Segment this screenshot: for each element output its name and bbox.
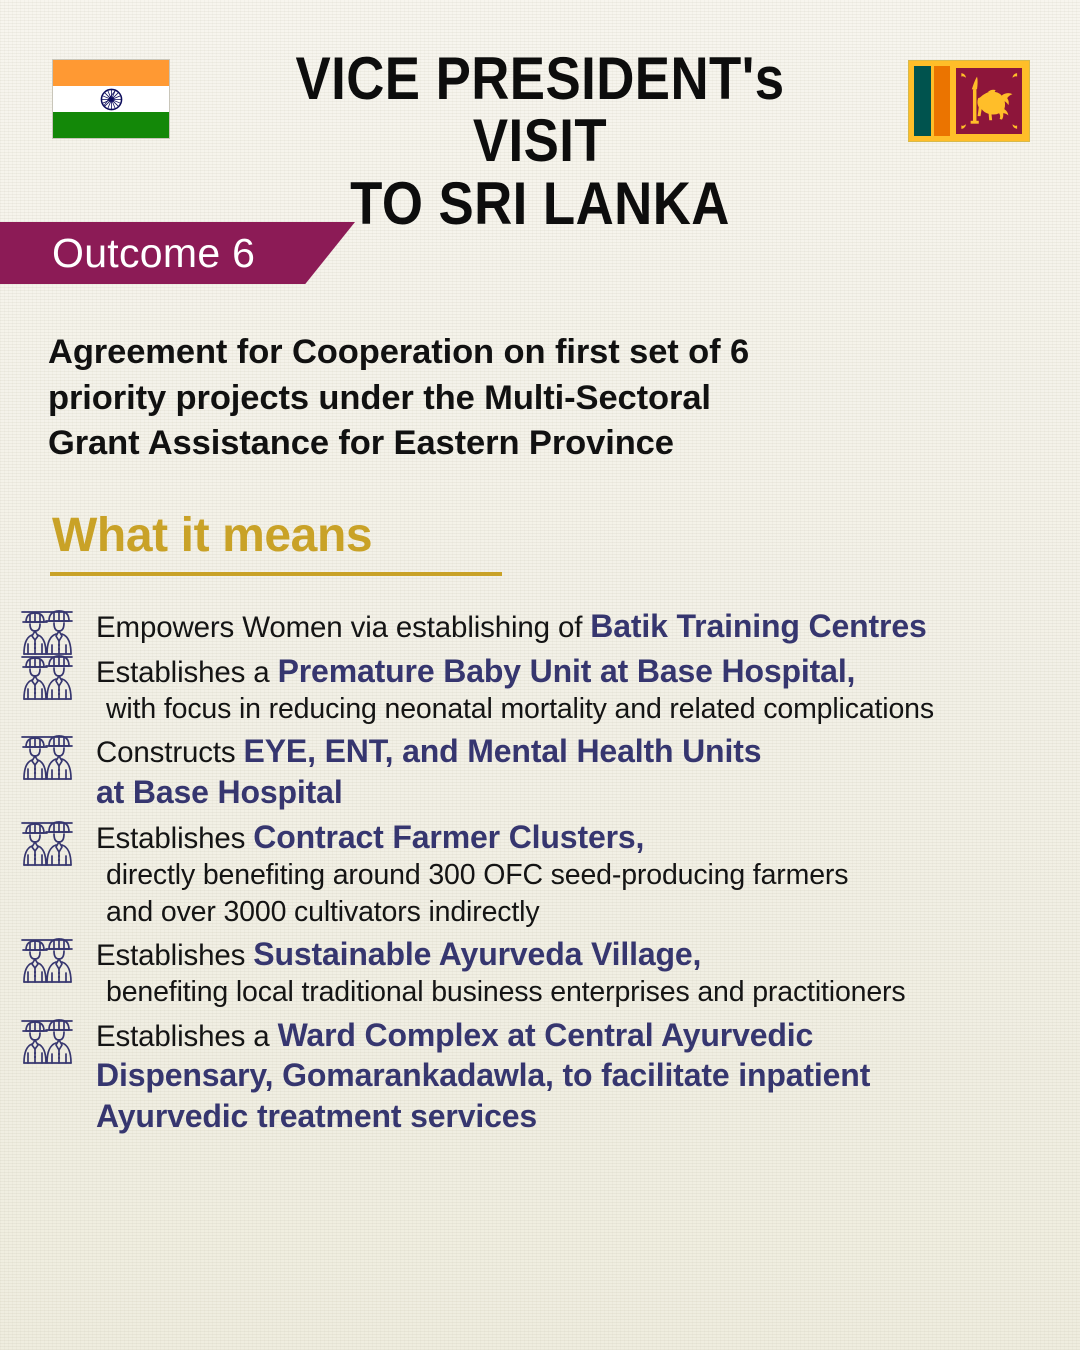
- summary-text: Agreement for Cooperation on first set o…: [48, 330, 948, 467]
- list-item-text: Establishes a Ward Complex at Central Ay…: [96, 1015, 1080, 1137]
- list-item-highlight: Contract Farmer Clusters,: [253, 819, 644, 855]
- list-item-subtext: benefiting local traditional business en…: [96, 974, 1064, 1010]
- two-workers-hardhat-icon: [16, 819, 88, 867]
- list-item-highlight: Ward Complex at Central Ayurvedic: [278, 1017, 814, 1053]
- infographic-page: VICE PRESIDENT's VISIT TO SRI LANKA: [0, 0, 1080, 1350]
- list-item-highlight: Sustainable Ayurveda Village,: [253, 936, 701, 972]
- list-item-highlight: Premature Baby Unit at Base Hospital,: [278, 653, 856, 689]
- list-item-highlight: EYE, ENT, and Mental Health Units: [244, 733, 762, 769]
- two-workers-hardhat-icon: [16, 608, 88, 656]
- lion-with-sword-icon: [960, 72, 1018, 130]
- sri-lanka-flag-green-stripe: [914, 66, 931, 136]
- list-item: Establishes Sustainable Ayurveda Village…: [0, 934, 1080, 1011]
- india-flag-green-band: [53, 112, 169, 138]
- list-item-lead: Constructs: [96, 736, 244, 769]
- ashoka-chakra-icon: [100, 88, 123, 111]
- list-item-subtext-highlight: at Base Hospital: [96, 772, 1064, 813]
- list-item: Constructs EYE, ENT, and Mental Health U…: [0, 731, 1080, 812]
- two-workers-hardhat-icon: [16, 653, 88, 701]
- list-item-lead: Establishes: [96, 939, 253, 972]
- bullet-list: Empowers Women via establishing of Batik…: [0, 606, 1080, 1140]
- list-item: Empowers Women via establishing of Batik…: [0, 606, 1080, 647]
- list-item-text: Constructs EYE, ENT, and Mental Health U…: [96, 731, 1080, 812]
- sri-lanka-flag-orange-stripe: [934, 66, 951, 136]
- list-item-text: Establishes Sustainable Ayurveda Village…: [96, 934, 1080, 1011]
- sri-lanka-flag-maroon-field: [954, 66, 1024, 136]
- list-item-highlight: Batik Training Centres: [590, 608, 926, 644]
- list-item-text: Establishes Contract Farmer Clusters,dir…: [96, 817, 1080, 930]
- two-workers-hardhat-icon: [16, 733, 88, 781]
- two-workers-hardhat-icon: [16, 1017, 88, 1065]
- list-item: Establishes a Ward Complex at Central Ay…: [0, 1015, 1080, 1137]
- list-item-subtext-highlight: Dispensary, Gomarankadawla, to facilitat…: [96, 1055, 1064, 1136]
- list-item: Establishes a Premature Baby Unit at Bas…: [0, 651, 1080, 728]
- india-flag-icon: [52, 59, 170, 139]
- outcome-banner: Outcome 6: [0, 222, 355, 284]
- two-workers-hardhat-icon: [16, 1017, 88, 1065]
- list-item-lead: Establishes a: [96, 1020, 278, 1053]
- list-item: Establishes Contract Farmer Clusters,dir…: [0, 817, 1080, 930]
- header: VICE PRESIDENT's VISIT TO SRI LANKA: [0, 0, 1080, 205]
- two-workers-hardhat-icon: [16, 936, 88, 984]
- india-flag-saffron-band: [53, 60, 169, 86]
- two-workers-hardhat-icon: [16, 653, 88, 701]
- sri-lanka-flag-icon: [908, 60, 1030, 142]
- list-item-text: Establishes a Premature Baby Unit at Bas…: [96, 651, 1080, 728]
- list-item-lead: Establishes a: [96, 656, 278, 689]
- what-it-means-underline: [50, 572, 502, 576]
- list-item-lead: Empowers Women via establishing of: [96, 611, 590, 644]
- what-it-means-heading: What it means: [52, 508, 372, 563]
- list-item-subtext: with focus in reducing neonatal mortalit…: [96, 691, 1064, 727]
- list-item-lead: Establishes: [96, 822, 253, 855]
- two-workers-hardhat-icon: [16, 936, 88, 984]
- list-item-subtext: directly benefiting around 300 OFC seed-…: [96, 857, 1064, 929]
- two-workers-hardhat-icon: [16, 819, 88, 867]
- two-workers-hardhat-icon: [16, 733, 88, 781]
- list-item-text: Empowers Women via establishing of Batik…: [96, 606, 1080, 647]
- page-title: VICE PRESIDENT's VISIT TO SRI LANKA: [228, 48, 853, 235]
- two-workers-hardhat-icon: [16, 608, 88, 656]
